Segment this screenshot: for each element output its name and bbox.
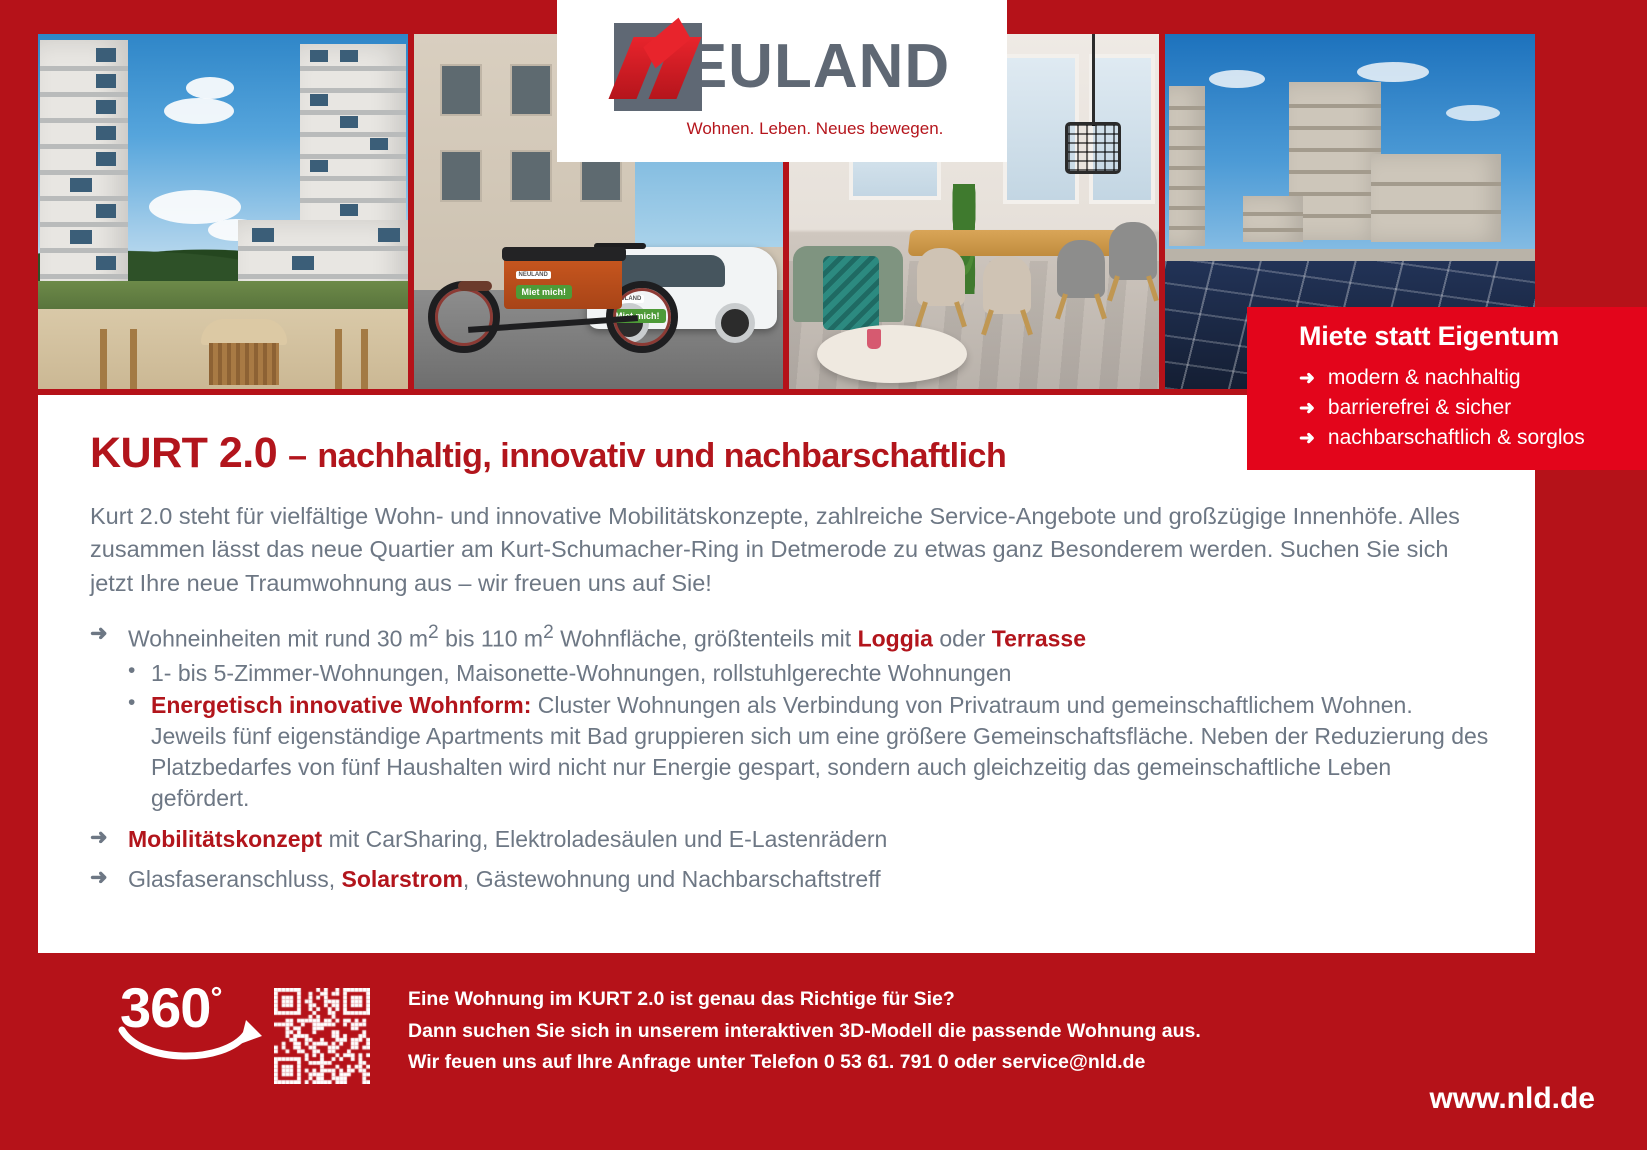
cloud-icon bbox=[164, 98, 234, 124]
footer: 360° Eine Wohnung im KURT 2.0 ist genau … bbox=[0, 960, 1647, 1150]
footer-line-3: Wir feuen uns auf Ihre Anfrage unter Tel… bbox=[408, 1047, 1201, 1079]
badge-item: ➜ barrierefrei & sicher bbox=[1299, 393, 1647, 423]
wooden-post bbox=[361, 329, 368, 389]
feature-subtext: Energetisch innovative Wohnform: Cluster… bbox=[151, 690, 1491, 813]
roof-parapet bbox=[1165, 249, 1536, 261]
coffee-table bbox=[817, 325, 967, 383]
neuland-n-mark-icon bbox=[614, 23, 702, 111]
badge-item: ➜ nachbarschaftlich & sorglos bbox=[1299, 423, 1647, 453]
arrow-icon: ➜ bbox=[90, 824, 112, 855]
feature-text: Mobilitätskonzept mit CarSharing, Elektr… bbox=[128, 824, 887, 855]
logo-wordmark: EULAND bbox=[686, 39, 950, 95]
arrow-icon: ➜ bbox=[1299, 366, 1315, 393]
pendant-lamp bbox=[1065, 122, 1121, 174]
logo-tagline: Wohnen. Leben. Neues bewegen. bbox=[687, 119, 944, 139]
blanket bbox=[823, 256, 879, 330]
feature-subitem-cluster: • Energetisch innovative Wohnform: Clust… bbox=[128, 690, 1491, 813]
highlight-mobilitaetskonzept: Mobilitätskonzept bbox=[128, 826, 322, 852]
wooden-post bbox=[335, 329, 342, 389]
chair bbox=[1109, 222, 1157, 280]
intro-paragraph: Kurt 2.0 steht für vielfältige Wohn- und… bbox=[90, 500, 1480, 600]
wooden-post bbox=[100, 329, 107, 389]
miete-statt-eigentum-badge: Miete statt Eigentum ➜ modern & nachhalt… bbox=[1247, 307, 1647, 470]
feature-text: Wohneinheiten mit rund 30 m2 bis 110 m2 … bbox=[128, 620, 1086, 654]
miet-mich-label: Miet mich! bbox=[516, 285, 573, 299]
feature-item-mobilitaet: ➜ Mobilitätskonzept mit CarSharing, Elek… bbox=[90, 824, 1491, 855]
highlight-wohnform: Energetisch innovative Wohnform: bbox=[151, 692, 531, 718]
feature-item-wohneinheiten: ➜ Wohneinheiten mit rund 30 m2 bis 110 m… bbox=[90, 620, 1491, 654]
flyer-root: NEULAND Miet mich! NEULAND Miet mich! bbox=[0, 0, 1647, 1150]
rotation-arrow-icon bbox=[112, 1016, 262, 1076]
arrow-icon: ➜ bbox=[1299, 426, 1315, 453]
feature-subtext: 1- bis 5-Zimmer-Wohnungen, Maisonette-Wo… bbox=[151, 658, 1011, 689]
cup bbox=[867, 329, 881, 349]
cargo-bike: NEULAND Miet mich! bbox=[428, 233, 678, 353]
arrow-icon: ➜ bbox=[90, 620, 112, 654]
footer-line-2: Dann suchen Sie sich in unserem interakt… bbox=[408, 1016, 1201, 1048]
badge-title: Miete statt Eigentum bbox=[1299, 321, 1647, 352]
feature-sublist: • 1- bis 5-Zimmer-Wohnungen, Maisonette-… bbox=[128, 658, 1491, 814]
highlight-solarstrom: Solarstrom bbox=[341, 866, 462, 892]
chair bbox=[1057, 240, 1105, 298]
feature-text: Glasfaseranschluss, Solarstrom, Gästewoh… bbox=[128, 864, 881, 895]
highlight-loggia: Loggia bbox=[858, 626, 933, 652]
playhouse bbox=[201, 319, 287, 385]
feature-item-glasfaser: ➜ Glasfaseranschluss, Solarstrom, Gästew… bbox=[90, 864, 1491, 895]
logo-row: EULAND bbox=[614, 23, 950, 111]
bullet-dot-icon: • bbox=[128, 690, 138, 813]
neuland-logo-panel: EULAND Wohnen. Leben. Neues bewegen. bbox=[557, 0, 1007, 162]
wooden-post bbox=[130, 329, 137, 389]
building-low bbox=[1243, 196, 1303, 242]
qr-code[interactable] bbox=[274, 988, 370, 1084]
headline-main: KURT 2.0 bbox=[90, 429, 277, 477]
building-block bbox=[1371, 154, 1501, 242]
footer-line-1: Eine Wohnung im KURT 2.0 ist genau das R… bbox=[408, 984, 1201, 1016]
website-url[interactable]: www.nld.de bbox=[1429, 1082, 1595, 1116]
arrow-icon: ➜ bbox=[1299, 396, 1315, 423]
feature-list: ➜ Wohneinheiten mit rund 30 m2 bis 110 m… bbox=[90, 620, 1491, 895]
cloud-icon bbox=[1446, 105, 1500, 121]
cloud-icon bbox=[1209, 70, 1265, 88]
content-card: KURT 2.0 – nachhaltig, innovativ und nac… bbox=[38, 395, 1535, 953]
lamp-cord bbox=[1092, 34, 1095, 126]
chair bbox=[917, 248, 965, 306]
chair bbox=[983, 256, 1031, 314]
photo-apartment-towers-playground bbox=[38, 34, 408, 389]
cloud-icon bbox=[186, 77, 234, 99]
building-tower bbox=[1169, 86, 1205, 246]
badge-item-label: barrierefrei & sicher bbox=[1328, 393, 1511, 423]
bullet-dot-icon: • bbox=[128, 658, 138, 689]
logo-360: 360° bbox=[120, 980, 250, 1076]
headline-subtitle: nachhaltig, innovativ und nachbarschaftl… bbox=[317, 437, 1006, 475]
badge-item-label: modern & nachhaltig bbox=[1328, 363, 1521, 393]
headline-dash: – bbox=[288, 437, 306, 475]
badge-item: ➜ modern & nachhaltig bbox=[1299, 363, 1647, 393]
feature-subitem-zimmer: • 1- bis 5-Zimmer-Wohnungen, Maisonette-… bbox=[128, 658, 1491, 689]
nld-chip: NEULAND bbox=[516, 271, 551, 279]
badge-item-label: nachbarschaftlich & sorglos bbox=[1328, 423, 1585, 453]
highlight-terrasse: Terrasse bbox=[992, 626, 1086, 652]
arrow-icon: ➜ bbox=[90, 864, 112, 895]
footer-text-block: Eine Wohnung im KURT 2.0 ist genau das R… bbox=[408, 984, 1201, 1079]
